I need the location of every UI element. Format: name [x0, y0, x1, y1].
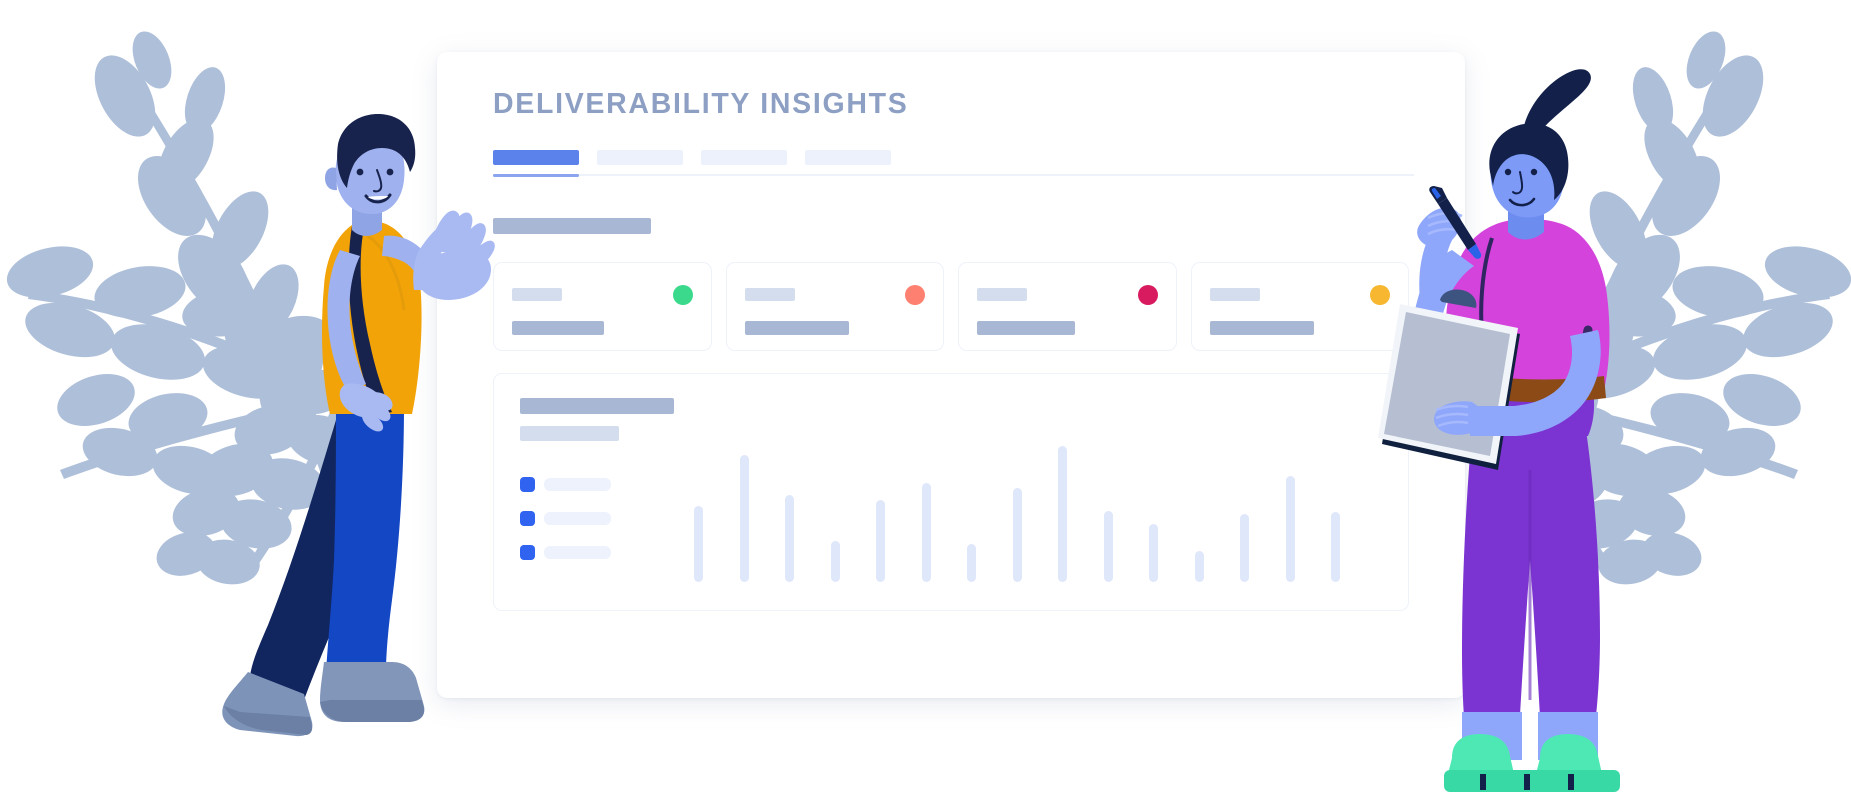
woman-eye-left	[1505, 169, 1511, 175]
woman-ponytail	[1524, 69, 1591, 132]
character-woman-right	[0, 0, 1851, 800]
woman-eye-right	[1531, 169, 1537, 175]
illustration-stage: DELIVERABILITY INSIGHTS	[0, 0, 1851, 800]
